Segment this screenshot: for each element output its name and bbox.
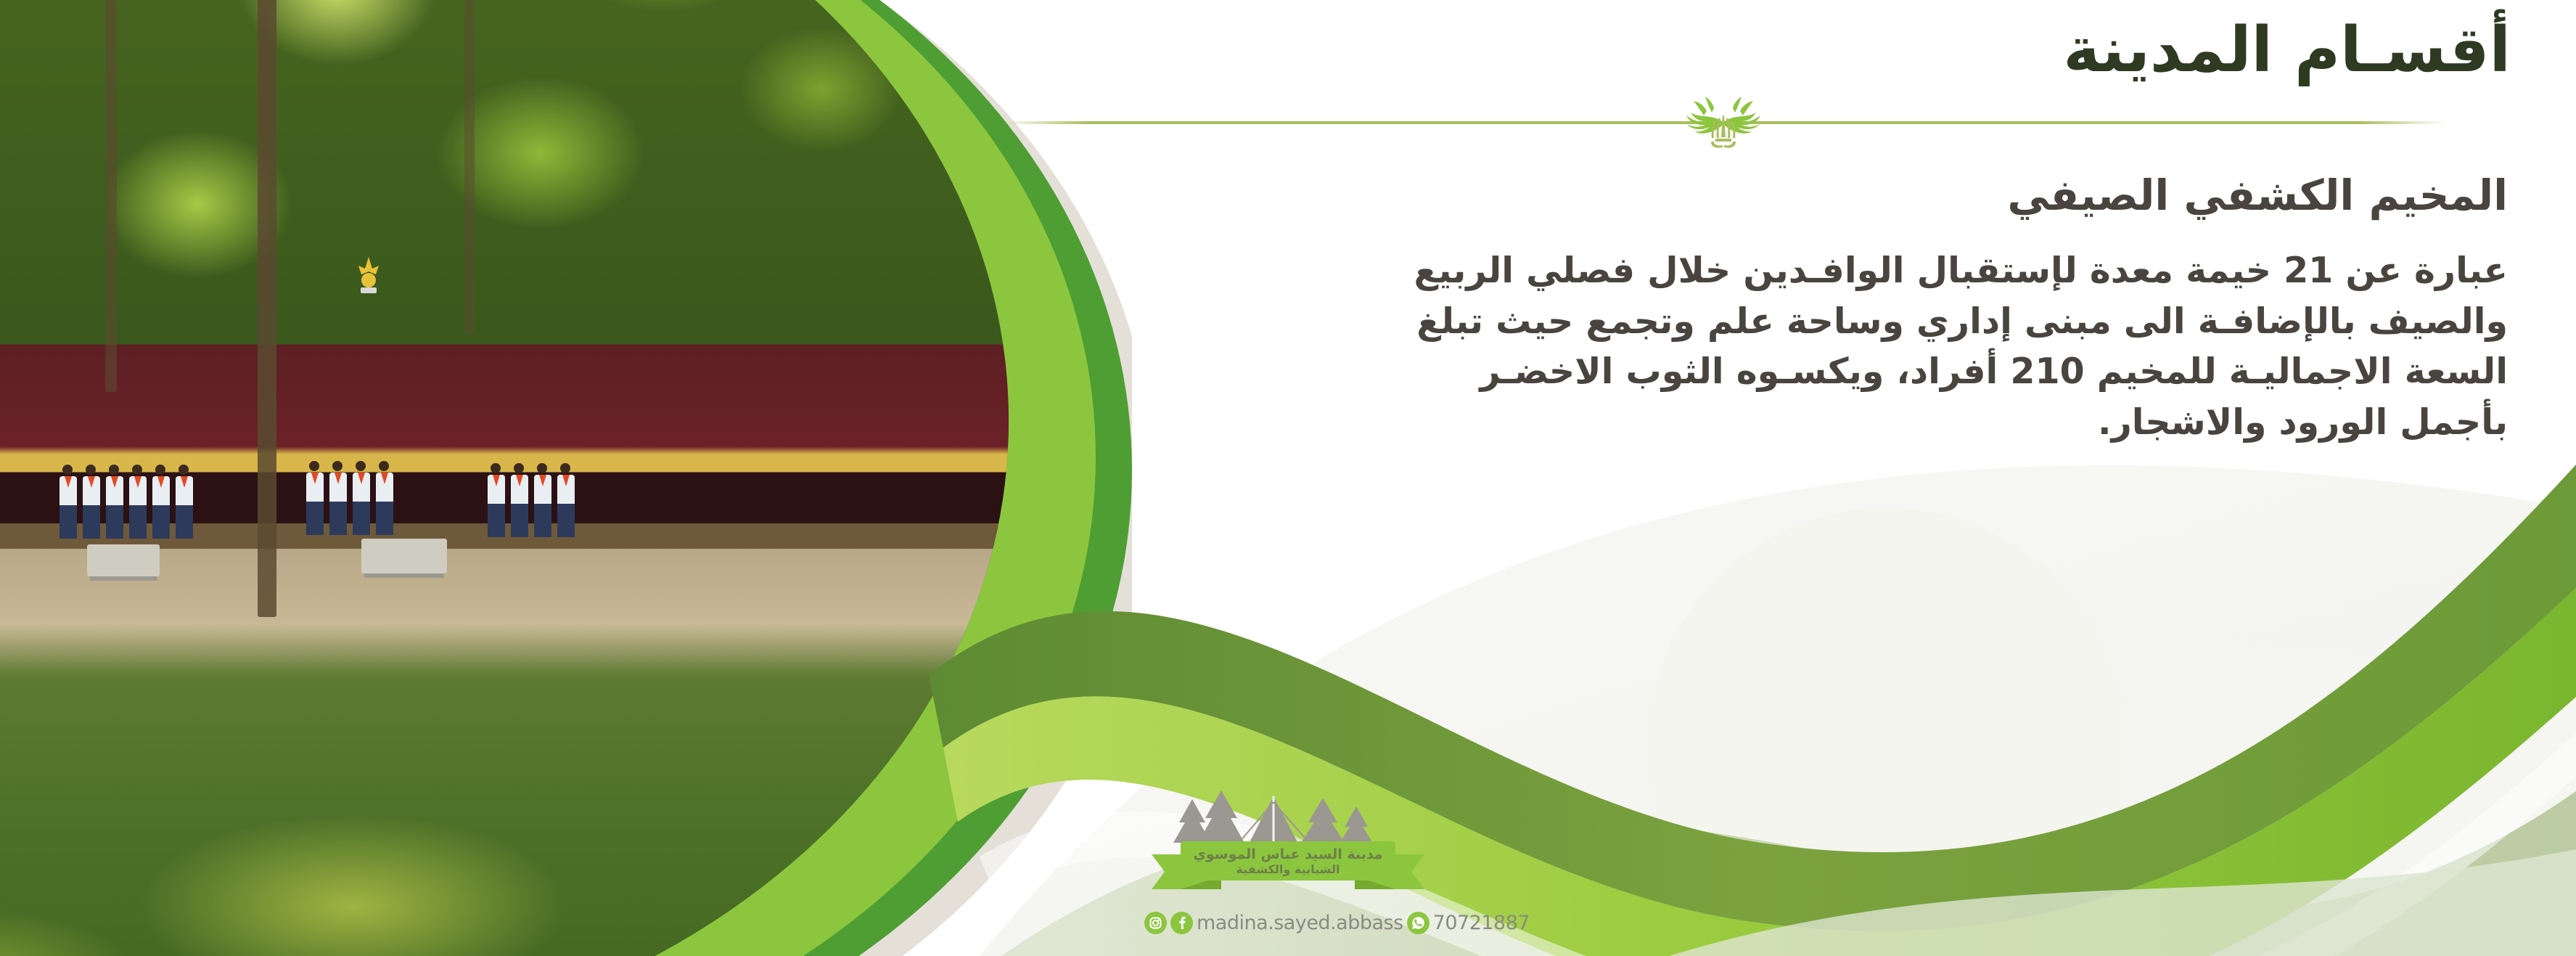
phone-number: 70721887	[1433, 912, 1530, 934]
scout-figure	[556, 463, 575, 537]
logo-mark: مدينة السيد عباس الموسوي الشبابية والكشف…	[1136, 788, 1440, 915]
description-line: بأجمل الورود والاشجار.	[1001, 397, 2508, 448]
social-handle: madina.sayed.abbass	[1197, 912, 1403, 934]
ribbon-line-2: الشبابية والكشفية	[1236, 863, 1340, 876]
section-description: عبارة عن 21 خيمة معدة لإستقبال الوافـدين…	[1001, 245, 2525, 447]
description-line: السعة الاجماليـة للمخيم 210 أفراد، ويكسـ…	[1001, 346, 2508, 397]
scout-figure	[328, 461, 347, 535]
section-subtitle: المخيم الكشفي الصيفي	[1001, 171, 2525, 221]
scout-figure	[81, 465, 100, 539]
divider	[1001, 101, 2445, 152]
scouts-group	[58, 465, 193, 539]
instagram-icon[interactable]	[1144, 912, 1167, 934]
floral-ornament-icon	[1647, 97, 1800, 149]
scout-figure	[486, 463, 505, 537]
ribbon-line-1: مدينة السيد عباس الموسوي	[1193, 847, 1382, 862]
scout-figure	[305, 461, 324, 535]
scout-figure	[128, 465, 147, 539]
scout-figure	[151, 465, 170, 539]
description-line: والصيف بالإضافـة الى مبنى إداري وساحة عل…	[1001, 296, 2508, 347]
tree-trunk-icon	[464, 0, 475, 334]
scout-figure	[533, 463, 551, 537]
description-line: عبارة عن 21 خيمة معدة لإستقبال الوافـدين…	[1001, 245, 2508, 296]
scout-figure	[374, 461, 393, 535]
scouts-group	[486, 463, 575, 537]
facebook-icon[interactable]	[1170, 912, 1193, 934]
tree-trunk-icon	[258, 0, 276, 617]
photo-panel	[0, 0, 1132, 956]
scout-figure	[174, 465, 193, 539]
scouts-group	[305, 461, 393, 535]
banner-root: أقسـام المدينة	[0, 0, 2576, 956]
bench-icon	[87, 544, 160, 576]
camp-photo	[0, 0, 1009, 956]
scout-figure	[104, 465, 123, 539]
ribbon-text-block: مدينة السيد عباس الموسوي الشبابية والكشف…	[1181, 843, 1395, 881]
scout-figure	[351, 461, 370, 535]
whatsapp-icon[interactable]	[1407, 912, 1429, 934]
social-contact-row: madina.sayed.abbass 70721887	[1144, 912, 1440, 934]
bench-icon	[361, 539, 447, 573]
scout-emblem-icon	[352, 256, 385, 296]
scout-figure	[509, 463, 528, 537]
tree-trunk-icon	[105, 0, 117, 392]
page-title: أقسـام المدينة	[1001, 16, 2525, 85]
organization-logo[interactable]: مدينة السيد عباس الموسوي الشبابية والكشف…	[1136, 788, 1440, 956]
scout-figure	[58, 465, 77, 539]
